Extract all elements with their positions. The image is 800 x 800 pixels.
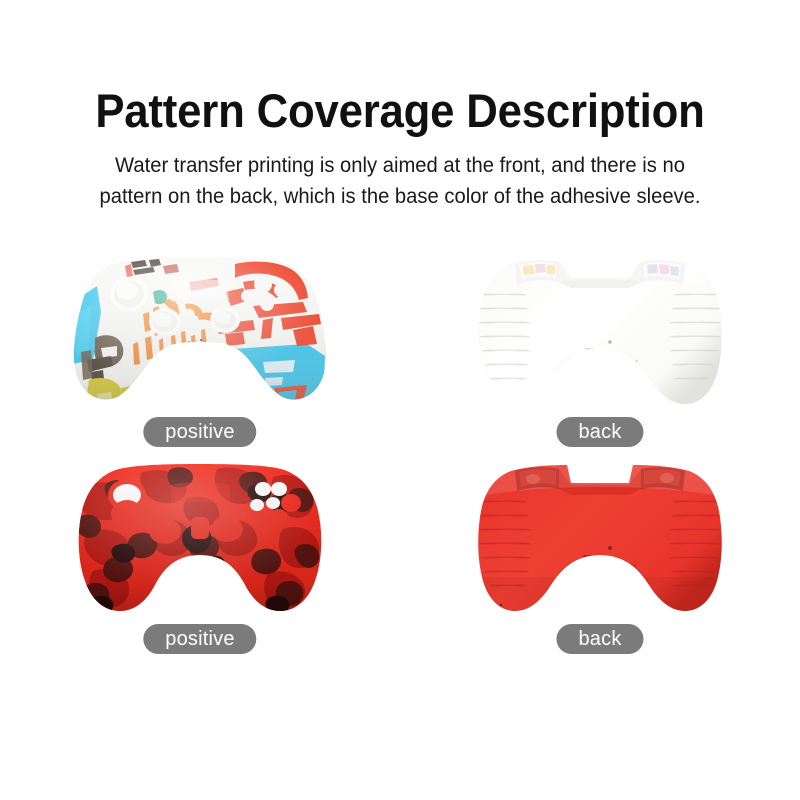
controller-image-red-camo-front [67,459,333,617]
white-back-surface: ◆ [467,252,733,410]
controller-image-graffiti-back: ◆ [467,252,733,410]
red-back-surface: ♛ [467,459,733,617]
controller-image-red-camo-back: ♛ [467,459,733,617]
product-cell-red-camo-front: positive [0,447,400,667]
image-label-positive: positive [143,417,256,447]
product-cell-graffiti-back: ◆ back [400,240,800,460]
graffiti-pattern-surface [67,252,333,410]
subtitle-line-2: pattern on the back, which is the base c… [52,181,748,212]
subtitle-line-1: Water transfer printing is only aimed at… [52,150,748,181]
red-camo-surface [67,459,333,617]
product-cell-graffiti-front: positive [0,240,400,460]
controller-image-graffiti-front [67,252,333,410]
image-label-positive: positive [143,624,256,654]
product-cell-red-camo-back: ♛ back [400,447,800,667]
product-image-grid: positive [0,240,800,680]
image-label-back: back [556,624,643,654]
page-subtitle: Water transfer printing is only aimed at… [52,150,748,212]
page-title: Pattern Coverage Description [28,86,772,136]
product-infographic: Pattern Coverage Description Water trans… [0,0,800,800]
svg-text:♛: ♛ [633,563,637,568]
image-label-back: back [556,417,643,447]
